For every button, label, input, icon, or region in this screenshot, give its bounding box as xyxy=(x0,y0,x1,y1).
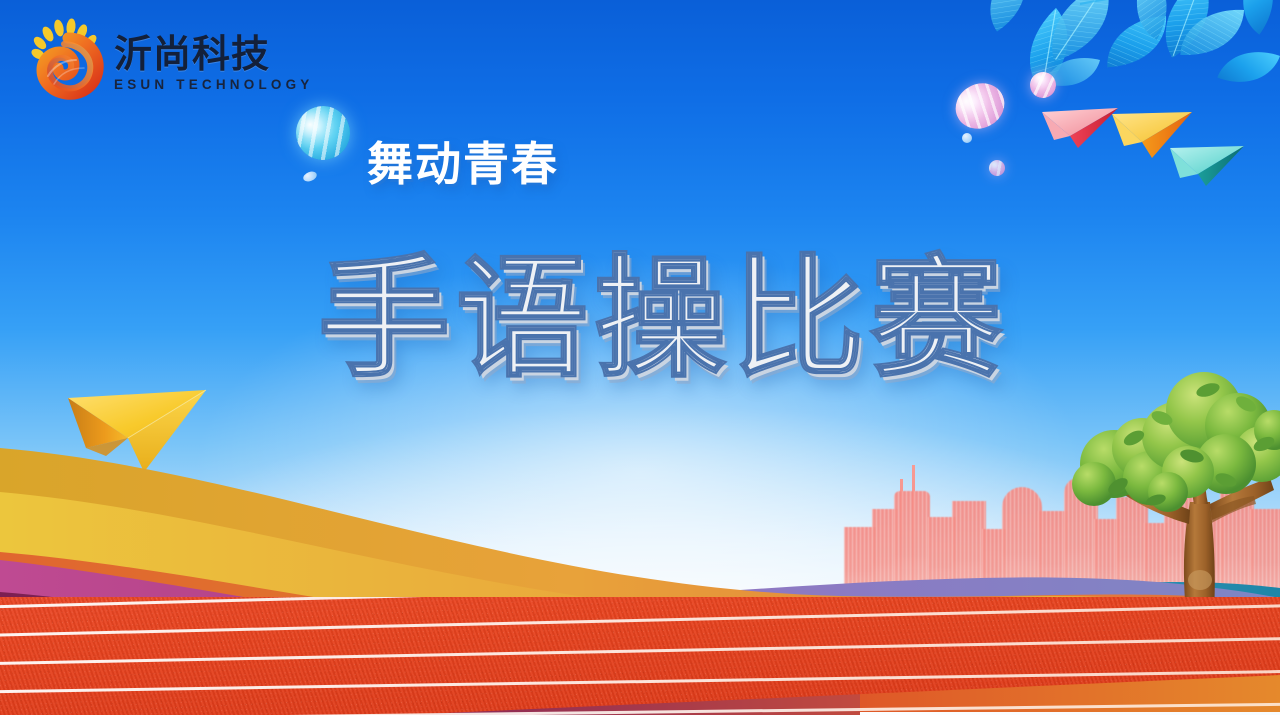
track-grain-texture xyxy=(0,597,1280,715)
running-track xyxy=(0,597,1280,715)
swirl-icon xyxy=(42,38,98,94)
brand-logo[interactable]: 沂尚科技 ESUN TECHNOLOGY xyxy=(24,18,314,102)
poster-title: 手语操比赛 xyxy=(318,212,1008,403)
brand-name-cn: 沂尚科技 xyxy=(114,35,314,73)
poster-subtitle: 舞动青春 xyxy=(367,128,559,194)
track-surface xyxy=(0,597,1280,715)
poster-canvas: 沂尚科技 ESUN TECHNOLOGY 舞动青春 手语操比赛 xyxy=(0,0,1280,715)
green-tree xyxy=(1058,352,1280,617)
swirl-sun-logo-icon xyxy=(24,18,108,102)
brand-name-en: ESUN TECHNOLOGY xyxy=(114,78,314,92)
brand-logo-text: 沂尚科技 ESUN TECHNOLOGY xyxy=(114,29,314,92)
